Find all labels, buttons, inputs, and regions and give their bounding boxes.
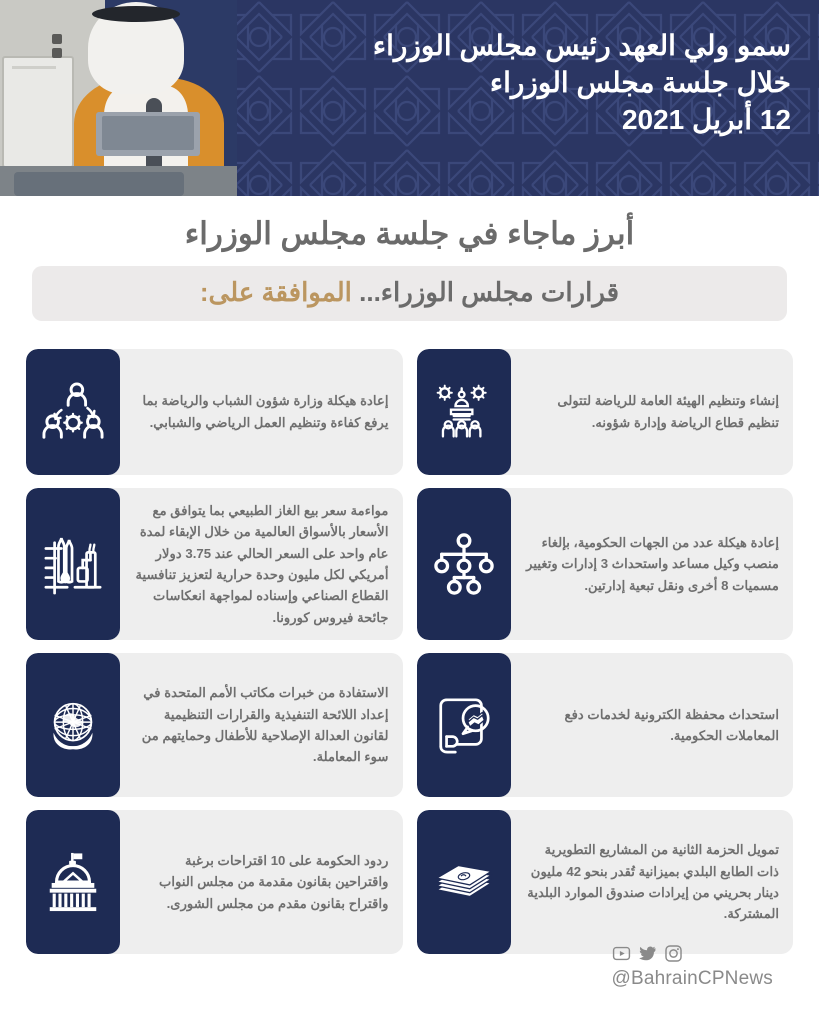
- card-municipal-projects-funding[interactable]: تمويل الحزمة الثانية من المشاريع التطوير…: [417, 810, 794, 954]
- card-body: الاستفادة من خبرات مكاتب الأمم المتحدة ف…: [120, 653, 403, 797]
- twitter-icon[interactable]: [638, 944, 657, 963]
- page-title: أبرز ماجاء في جلسة مجلس الوزراء: [32, 214, 787, 254]
- card-body: تمويل الحزمة الثانية من المشاريع التطوير…: [511, 810, 794, 954]
- decisions-grid: إنشاء وتنظيم الهيئة العامة للرياضة لتتول…: [26, 349, 793, 954]
- card-government-responses-proposals[interactable]: ردود الحكومة على 10 اقتراحات برغبة واقتر…: [26, 810, 403, 954]
- card-natural-gas-price[interactable]: مواءمة سعر بيع الغاز الطبيعي بما يتوافق …: [26, 488, 403, 640]
- parliament-capitol-building-icon: [42, 851, 104, 913]
- card-icon-wrap: [417, 810, 511, 954]
- card-icon-wrap: [417, 653, 511, 797]
- card-text: تمويل الحزمة الثانية من المشاريع التطوير…: [523, 839, 780, 925]
- youtube-icon[interactable]: [612, 944, 631, 963]
- card-text: ردود الحكومة على 10 اقتراحات برغبة واقتر…: [132, 850, 389, 914]
- instagram-icon[interactable]: [664, 944, 683, 963]
- card-text: استحداث محفظة الكترونية لخدمات دفع المعا…: [523, 704, 780, 747]
- card-icon-wrap: [417, 349, 511, 475]
- header-title-block: سمو ولي العهد رئيس مجلس الوزراء خلال جلس…: [251, 28, 791, 139]
- header-line-2: خلال جلسة مجلس الوزراء: [251, 65, 791, 102]
- subtitle-accent: الموافقة على:: [200, 277, 352, 307]
- card-body: إعادة هيكلة وزارة شؤون الشباب والرياضة ب…: [120, 349, 403, 475]
- government-building-gears-icon: [433, 381, 495, 443]
- card-icon-wrap: [417, 488, 511, 640]
- card-icon-wrap: [26, 653, 120, 797]
- header-banner: سمو ولي العهد رئيس مجلس الوزراء خلال جلس…: [0, 0, 819, 196]
- card-government-entities-restructure[interactable]: إعادة هيكلة عدد من الجهات الحكومية، بإلغ…: [417, 488, 794, 640]
- card-body: ردود الحكومة على 10 اقتراحات برغبة واقتر…: [120, 810, 403, 954]
- card-electronic-wallet[interactable]: استحداث محفظة الكترونية لخدمات دفع المعا…: [417, 653, 794, 797]
- card-icon-wrap: [26, 488, 120, 640]
- subtitle-banner: قرارات مجلس الوزراء... الموافقة على:: [32, 266, 787, 321]
- crown-prince-photo: [0, 0, 237, 196]
- card-youth-sports-ministry-restructure[interactable]: إعادة هيكلة وزارة شؤون الشباب والرياضة ب…: [26, 349, 403, 475]
- card-body: استحداث محفظة الكترونية لخدمات دفع المعا…: [511, 653, 794, 797]
- card-icon-wrap: [26, 810, 120, 954]
- united-nations-emblem-icon: [42, 694, 104, 756]
- people-gear-network-icon: [42, 381, 104, 443]
- card-text: الاستفادة من خبرات مكاتب الأمم المتحدة ف…: [132, 682, 389, 768]
- card-text: إعادة هيكلة عدد من الجهات الحكومية، بإلغ…: [523, 532, 780, 596]
- card-sports-authority[interactable]: إنشاء وتنظيم الهيئة العامة للرياضة لتتول…: [417, 349, 794, 475]
- card-body: إنشاء وتنظيم الهيئة العامة للرياضة لتتول…: [511, 349, 794, 475]
- card-un-child-justice-law[interactable]: الاستفادة من خبرات مكاتب الأمم المتحدة ف…: [26, 653, 403, 797]
- hand-phone-money-payment-icon: [433, 694, 495, 756]
- card-body: إعادة هيكلة عدد من الجهات الحكومية، بإلغ…: [511, 488, 794, 640]
- card-text: مواءمة سعر بيع الغاز الطبيعي بما يتوافق …: [132, 500, 389, 628]
- card-text: إعادة هيكلة وزارة شؤون الشباب والرياضة ب…: [132, 390, 389, 433]
- social-handle: @BahrainCPNews: [612, 968, 773, 990]
- oil-gas-refinery-icon: [42, 533, 104, 595]
- header-date: 12 أبريل 2021: [251, 102, 791, 139]
- card-text: إنشاء وتنظيم الهيئة العامة للرياضة لتتول…: [523, 390, 780, 433]
- subtitle-prefix: قرارات مجلس الوزراء...: [352, 277, 619, 307]
- header-line-1: سمو ولي العهد رئيس مجلس الوزراء: [251, 28, 791, 65]
- social-links: [612, 944, 773, 963]
- footer: @BahrainCPNews: [612, 944, 773, 990]
- card-icon-wrap: [26, 349, 120, 475]
- card-body: مواءمة سعر بيع الغاز الطبيعي بما يتوافق …: [120, 488, 403, 640]
- org-chart-hierarchy-icon: [433, 533, 495, 595]
- banknotes-stack-icon: [433, 851, 495, 913]
